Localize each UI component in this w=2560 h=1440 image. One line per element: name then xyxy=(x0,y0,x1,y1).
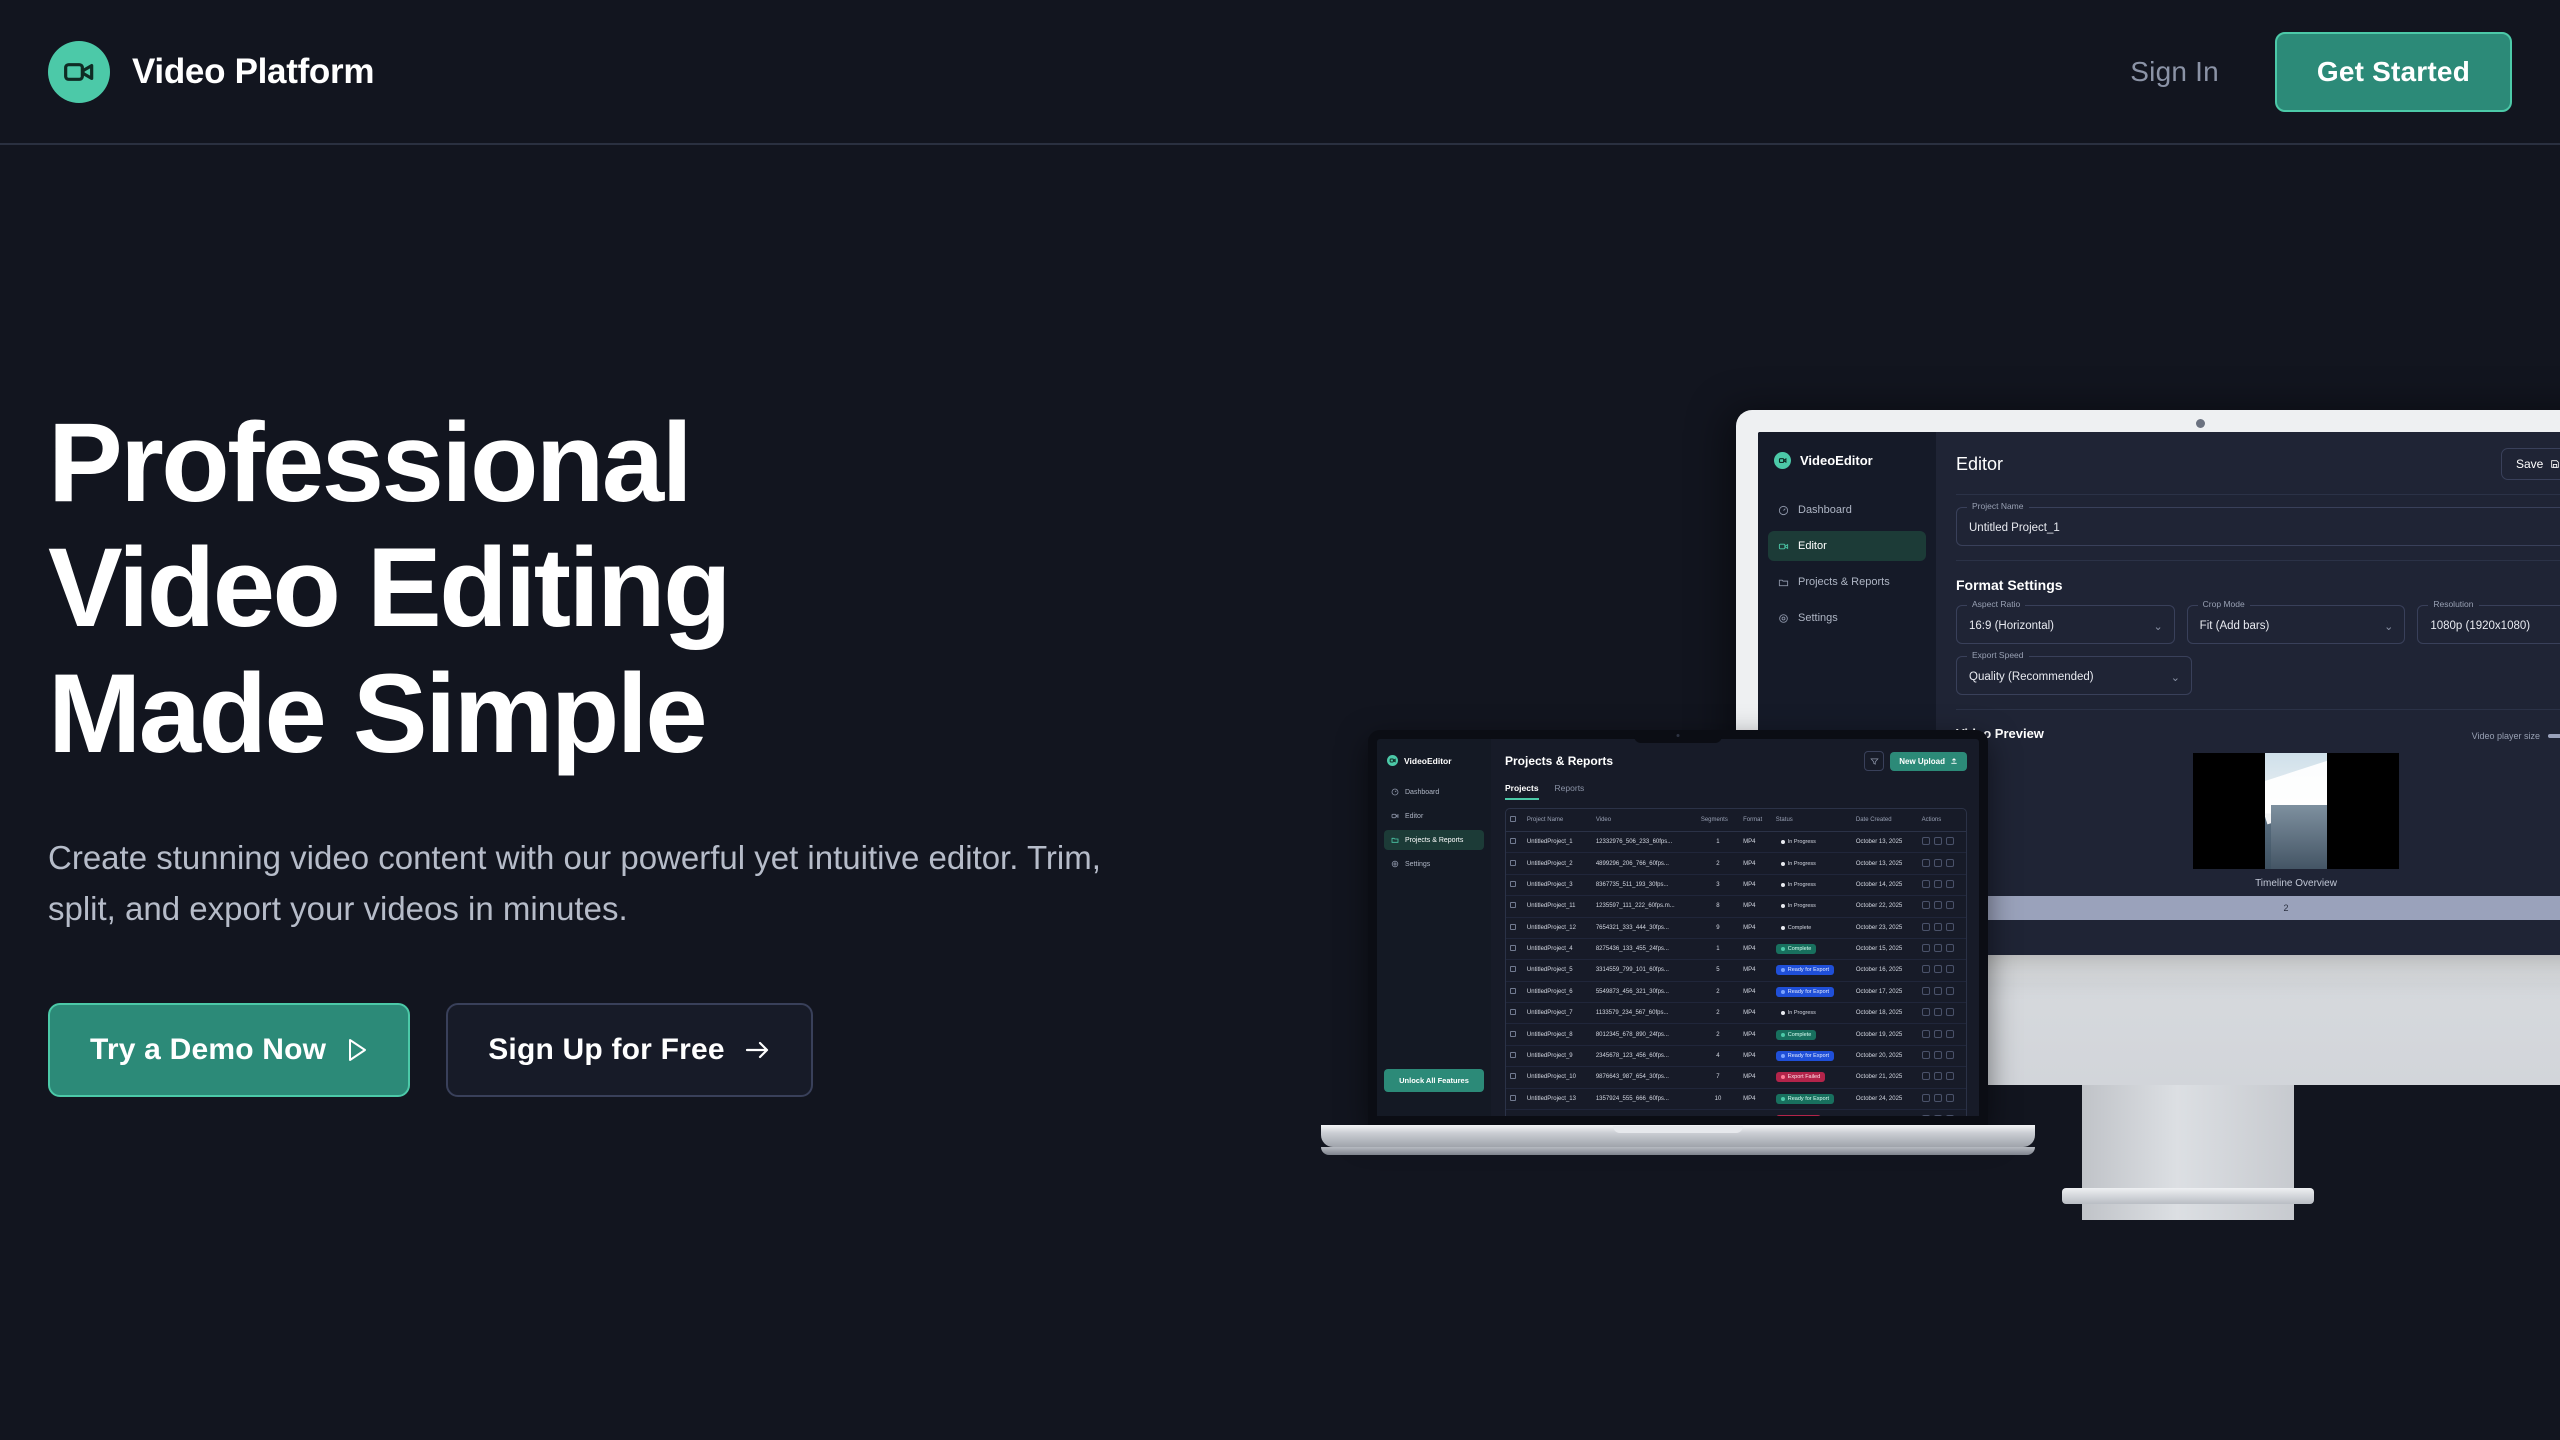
editor-topbar: Editor Save Exp xyxy=(1956,448,2560,480)
laptop-header: Projects & Reports New Upload xyxy=(1505,751,1967,771)
cell-date-created: October 18, 2025 xyxy=(1852,1003,1918,1024)
edit-icon xyxy=(1922,880,1930,888)
format-fields-row: Aspect Ratio 16:9 (Horizontal) ⌄ Crop Mo… xyxy=(1956,593,2560,644)
cell-segments: 7 xyxy=(1697,1067,1739,1088)
cell-video: 1235597_111_222_60fps.m... xyxy=(1592,896,1697,917)
edit-icon xyxy=(1922,1115,1930,1116)
aspect-ratio-value: 16:9 (Horizontal) xyxy=(1969,620,2054,632)
sidebar-label: Projects & Reports xyxy=(1405,837,1463,844)
editor-brand-name: VideoEditor xyxy=(1800,453,1873,468)
cell-segments: 2 xyxy=(1697,1003,1739,1024)
cell-format: MP4 xyxy=(1739,1088,1772,1109)
monitor-stand-base xyxy=(2062,1188,2314,1204)
sidebar-label: Settings xyxy=(1405,861,1430,868)
cell-date-created: October 13, 2025 xyxy=(1852,853,1918,874)
save-button[interactable]: Save xyxy=(2501,448,2560,480)
export-speed-value: Quality (Recommended) xyxy=(1969,671,2094,683)
cell-video: 1357924_555_666_60fps... xyxy=(1592,1088,1697,1109)
trash-icon xyxy=(1946,880,1954,888)
sidebar-item-projects-reports[interactable]: Projects & Reports xyxy=(1768,567,1926,597)
cell-date-created: October 24, 2025 xyxy=(1852,1088,1918,1109)
folder-icon xyxy=(1778,577,1789,588)
download-icon xyxy=(1934,1094,1942,1102)
edit-icon xyxy=(1922,1051,1930,1059)
laptop-header-actions: New Upload xyxy=(1864,751,1967,771)
row-checkbox[interactable] xyxy=(1506,896,1523,917)
cell-date-created: October 22, 2025 xyxy=(1852,896,1918,917)
cell-segments: 5 xyxy=(1697,960,1739,981)
video-camera-icon xyxy=(1774,452,1791,469)
cell-format: MP4 xyxy=(1739,1024,1772,1045)
cell-date-created: October 19, 2025 xyxy=(1852,1024,1918,1045)
gauge-icon xyxy=(1778,505,1789,516)
webcam-icon xyxy=(2196,419,2205,428)
trash-icon xyxy=(1946,1094,1954,1102)
cell-video: 12332976_506_233_60fps... xyxy=(1592,832,1697,853)
editor-main: Editor Save Exp Project Name Untitl xyxy=(1936,432,2560,955)
cell-actions[interactable] xyxy=(1918,1003,1966,1024)
cell-project-name: UntitledProject_14 xyxy=(1523,1109,1592,1116)
download-icon xyxy=(1934,987,1942,995)
table-row[interactable]: UntitledProject_127654321_333_444_30fps.… xyxy=(1506,917,1966,938)
cell-format: MP4 xyxy=(1739,896,1772,917)
video-camera-icon xyxy=(1391,812,1399,820)
edit-icon xyxy=(1922,1030,1930,1038)
cell-status: Complete xyxy=(1772,938,1852,959)
export-speed-select[interactable]: Export Speed Quality (Recommended) ⌄ xyxy=(1956,656,2192,695)
sidebar-item-dashboard[interactable]: Dashboard xyxy=(1384,782,1484,802)
cell-segments: 2 xyxy=(1697,853,1739,874)
download-icon xyxy=(1934,1051,1942,1059)
cell-status: In Progress xyxy=(1772,896,1852,917)
row-checkbox[interactable] xyxy=(1506,960,1523,981)
row-checkbox[interactable] xyxy=(1506,874,1523,895)
cell-actions[interactable] xyxy=(1918,896,1966,917)
row-checkbox[interactable] xyxy=(1506,1088,1523,1109)
cell-format: MP4 xyxy=(1739,1003,1772,1024)
project-name-legend: Project Name xyxy=(1967,501,2029,511)
sidebar-item-settings[interactable]: Settings xyxy=(1384,854,1484,874)
column-status[interactable]: Status xyxy=(1772,809,1852,832)
crop-mode-value: Fit (Add bars) xyxy=(2200,620,2270,632)
cell-video: 2468135_777_888_24fps... xyxy=(1592,1109,1697,1116)
video-preview-header: Video Preview Video player size xyxy=(1956,726,2560,741)
cell-actions[interactable] xyxy=(1918,853,1966,874)
laptop-mockup: VideoEditor Dashboard Editor Projects & … xyxy=(1368,730,1988,1125)
download-icon xyxy=(1934,859,1942,867)
download-icon xyxy=(1934,1030,1942,1038)
cell-actions[interactable] xyxy=(1918,832,1966,853)
cell-project-name: UntitledProject_2 xyxy=(1523,853,1592,874)
cell-project-name: UntitledProject_4 xyxy=(1523,938,1592,959)
laptop-nav: Dashboard Editor Projects & Reports Sett… xyxy=(1377,782,1491,874)
cell-status: Ready for Export xyxy=(1772,1088,1852,1109)
gear-icon xyxy=(1778,613,1789,624)
sidebar-item-projects-reports[interactable]: Projects & Reports xyxy=(1384,830,1484,850)
gauge-icon xyxy=(1391,788,1399,796)
column-date-created[interactable]: Date Created xyxy=(1852,809,1918,832)
cell-actions[interactable] xyxy=(1918,1045,1966,1066)
format-settings-title: Format Settings xyxy=(1956,577,2560,593)
resolution-legend: Resolution xyxy=(2428,599,2478,609)
cell-format: MP4 xyxy=(1739,853,1772,874)
laptop-base xyxy=(1321,1125,2035,1147)
project-name-value: Untitled Project_1 xyxy=(1969,522,2060,534)
column-project-name[interactable]: Project Name xyxy=(1523,809,1592,832)
cell-project-name: UntitledProject_11 xyxy=(1523,896,1592,917)
trash-icon xyxy=(1946,944,1954,952)
editor-top-actions: Save Exp xyxy=(2501,448,2560,480)
download-icon xyxy=(1934,923,1942,931)
sidebar-label: Dashboard xyxy=(1798,504,1852,516)
trash-icon xyxy=(1946,1115,1954,1116)
laptop-brand-name: VideoEditor xyxy=(1404,756,1452,766)
download-icon xyxy=(1934,880,1942,888)
editor-nav: Dashboard Editor Projects & Reports Sett… xyxy=(1758,495,1936,633)
sidebar-item-dashboard[interactable]: Dashboard xyxy=(1768,495,1926,525)
cell-date-created: October 15, 2025 xyxy=(1852,938,1918,959)
table-row[interactable]: UntitledProject_142468135_777_888_24fps.… xyxy=(1506,1109,1966,1116)
aspect-ratio-legend: Aspect Ratio xyxy=(1967,599,2025,609)
slider-track[interactable] xyxy=(2548,734,2560,738)
table-header-row: Project Name Video Segments Format Statu… xyxy=(1506,809,1966,832)
project-name-field[interactable]: Project Name Untitled Project_1 xyxy=(1956,507,2560,546)
row-checkbox[interactable] xyxy=(1506,832,1523,853)
cell-video: 1133579_234_567_60fps... xyxy=(1592,1003,1697,1024)
cell-format: MP4 xyxy=(1739,832,1772,853)
cell-actions[interactable] xyxy=(1918,1067,1966,1088)
cell-video: 2345678_123_456_60fps... xyxy=(1592,1045,1697,1066)
unlock-all-features-button[interactable]: Unlock All Features xyxy=(1384,1069,1484,1092)
cell-project-name: UntitledProject_10 xyxy=(1523,1067,1592,1088)
row-checkbox[interactable] xyxy=(1506,1045,1523,1066)
cell-segments: 4 xyxy=(1697,1045,1739,1066)
trash-icon xyxy=(1946,965,1954,973)
edit-icon xyxy=(1922,837,1930,845)
folder-icon xyxy=(1391,836,1399,844)
tab-reports[interactable]: Reports xyxy=(1555,783,1585,800)
cell-video: 4899296_206_766_60fps... xyxy=(1592,853,1697,874)
cell-actions[interactable] xyxy=(1918,938,1966,959)
table-row[interactable]: UntitledProject_88012345_678_890_24fps..… xyxy=(1506,1024,1966,1045)
cell-actions[interactable] xyxy=(1918,917,1966,938)
cell-status: In Progress xyxy=(1772,853,1852,874)
cell-format: MP4 xyxy=(1739,1067,1772,1088)
cell-project-name: UntitledProject_9 xyxy=(1523,1045,1592,1066)
cell-segments: 2 xyxy=(1697,981,1739,1002)
cell-status: In Progress xyxy=(1772,1003,1852,1024)
edit-icon xyxy=(1922,1072,1930,1080)
cell-date-created: October 23, 2025 xyxy=(1852,917,1918,938)
cell-status: In Progress xyxy=(1772,874,1852,895)
trash-icon xyxy=(1946,923,1954,931)
download-icon xyxy=(1934,965,1942,973)
cell-video: 8012345_678_890_24fps... xyxy=(1592,1024,1697,1045)
cell-format: MP4 xyxy=(1739,917,1772,938)
trash-icon xyxy=(1946,837,1954,845)
aspect-ratio-select[interactable]: Aspect Ratio 16:9 (Horizontal) ⌄ xyxy=(1956,605,2175,644)
projects-table-wrapper: Project Name Video Segments Format Statu… xyxy=(1505,808,1967,1116)
cell-date-created: October 13, 2025 xyxy=(1852,832,1918,853)
laptop-main: Projects & Reports New Upload Projects R… xyxy=(1491,739,1979,1116)
laptop-sidebar: VideoEditor Dashboard Editor Projects & … xyxy=(1377,739,1491,1116)
download-icon xyxy=(1934,901,1942,909)
crop-mode-select[interactable]: Crop Mode Fit (Add bars) ⌄ xyxy=(2187,605,2406,644)
row-checkbox[interactable] xyxy=(1506,917,1523,938)
sidebar-label: Dashboard xyxy=(1405,789,1439,796)
table-row[interactable]: UntitledProject_48275436_133_455_24fps..… xyxy=(1506,938,1966,959)
cell-date-created: October 14, 2025 xyxy=(1852,874,1918,895)
chevron-down-icon: ⌄ xyxy=(2384,619,2393,632)
cell-project-name: UntitledProject_6 xyxy=(1523,981,1592,1002)
edit-icon xyxy=(1922,901,1930,909)
edit-icon xyxy=(1922,987,1930,995)
save-label: Save xyxy=(2516,457,2543,471)
table-row[interactable]: UntitledProject_109876643_987_654_30fps.… xyxy=(1506,1067,1966,1088)
player-size-label: Video player size xyxy=(2472,731,2540,741)
cell-status: Complete xyxy=(1772,917,1852,938)
edit-icon xyxy=(1922,859,1930,867)
cell-actions[interactable] xyxy=(1918,874,1966,895)
tab-projects[interactable]: Projects xyxy=(1505,783,1539,800)
table-row[interactable]: UntitledProject_92345678_123_456_60fps..… xyxy=(1506,1045,1966,1066)
cell-project-name: UntitledProject_3 xyxy=(1523,874,1592,895)
preview-thumbnail xyxy=(2265,753,2327,869)
table-row[interactable]: UntitledProject_65549873_456_321_30fps..… xyxy=(1506,981,1966,1002)
download-icon xyxy=(1934,1008,1942,1016)
cell-video: 8367735_511_193_30fps... xyxy=(1592,874,1697,895)
sidebar-label: Projects & Reports xyxy=(1798,576,1890,588)
cell-format: MP4 xyxy=(1739,874,1772,895)
sidebar-label: Editor xyxy=(1405,813,1423,820)
download-icon xyxy=(1934,944,1942,952)
new-upload-label: New Upload xyxy=(1899,757,1945,766)
cell-date-created: October 16, 2025 xyxy=(1852,960,1918,981)
table-body: UntitledProject_112332976_506_233_60fps.… xyxy=(1506,832,1966,1117)
cell-date-created: October 25, 2025 xyxy=(1852,1109,1918,1116)
cell-segments: 1 xyxy=(1697,938,1739,959)
crop-mode-legend: Crop Mode xyxy=(2198,599,2250,609)
cell-status: Complete xyxy=(1772,1024,1852,1045)
cell-actions[interactable] xyxy=(1918,1088,1966,1109)
save-disk-icon xyxy=(2550,459,2560,469)
resolution-select[interactable]: Resolution 1080p (1920x1080) ⌄ xyxy=(2417,605,2560,644)
download-icon xyxy=(1934,1115,1942,1116)
laptop-tabs: Projects Reports xyxy=(1505,783,1967,800)
laptop-notch xyxy=(1634,730,1722,743)
edit-icon xyxy=(1922,965,1930,973)
table-row[interactable]: UntitledProject_111235597_111_222_60fps.… xyxy=(1506,896,1966,917)
trash-icon xyxy=(1946,1051,1954,1059)
row-checkbox[interactable] xyxy=(1506,1067,1523,1088)
funnel-icon[interactable] xyxy=(1864,751,1884,771)
column-format[interactable]: Format xyxy=(1739,809,1772,832)
edit-icon xyxy=(1922,923,1930,931)
chevron-down-icon: ⌄ xyxy=(2171,670,2180,683)
cell-status: Ready for Export xyxy=(1772,981,1852,1002)
table-row[interactable]: UntitledProject_24899296_206_766_60fps..… xyxy=(1506,853,1966,874)
cell-project-name: UntitledProject_8 xyxy=(1523,1024,1592,1045)
row-checkbox[interactable] xyxy=(1506,1109,1523,1116)
cell-actions[interactable] xyxy=(1918,981,1966,1002)
cell-project-name: UntitledProject_13 xyxy=(1523,1088,1592,1109)
cell-video: 3314559_799_101_60fps... xyxy=(1592,960,1697,981)
download-icon xyxy=(1934,837,1942,845)
cell-actions[interactable] xyxy=(1918,1109,1966,1116)
row-checkbox[interactable] xyxy=(1506,981,1523,1002)
laptop-foot xyxy=(1321,1147,2035,1155)
cell-segments: 2 xyxy=(1697,1024,1739,1045)
column-actions: Actions xyxy=(1918,809,1966,832)
divider xyxy=(1956,494,2560,495)
column-segments[interactable]: Segments xyxy=(1697,809,1739,832)
cell-segments: 11 xyxy=(1697,1109,1739,1116)
cell-actions[interactable] xyxy=(1918,1024,1966,1045)
edit-icon xyxy=(1922,1008,1930,1016)
new-upload-button[interactable]: New Upload xyxy=(1890,752,1967,771)
divider xyxy=(1956,709,2560,710)
cell-video: 9876643_987_654_30fps... xyxy=(1592,1067,1697,1088)
sidebar-item-settings[interactable]: Settings xyxy=(1768,603,1926,633)
row-checkbox[interactable] xyxy=(1506,1024,1523,1045)
cell-segments: 1 xyxy=(1697,832,1739,853)
cell-date-created: October 17, 2025 xyxy=(1852,981,1918,1002)
cell-format: MP4 xyxy=(1739,1045,1772,1066)
projects-table: Project Name Video Segments Format Statu… xyxy=(1506,809,1966,1116)
divider xyxy=(1956,560,2560,561)
player-size-slider[interactable]: Video player size xyxy=(2472,731,2560,741)
cell-segments: 9 xyxy=(1697,917,1739,938)
cell-format: MP4 xyxy=(1739,1109,1772,1116)
laptop-screen: VideoEditor Dashboard Editor Projects & … xyxy=(1368,730,1988,1125)
cell-video: 5549873_456_321_30fps... xyxy=(1592,981,1697,1002)
upload-icon xyxy=(1950,757,1958,765)
cell-status: In Progress xyxy=(1772,1109,1852,1116)
sidebar-label: Editor xyxy=(1798,540,1827,552)
cell-video: 8275436_133_455_24fps... xyxy=(1592,938,1697,959)
timeline-caption: Timeline Overview xyxy=(1956,878,2560,889)
video-camera-icon xyxy=(1387,755,1398,766)
download-icon xyxy=(1934,1072,1942,1080)
video-player-preview[interactable] xyxy=(2193,753,2399,869)
cell-status: In Progress xyxy=(1772,832,1852,853)
cell-status: Export Failed xyxy=(1772,1067,1852,1088)
product-mockups: VideoEditor Dashboard Editor Projects & … xyxy=(0,0,2560,1440)
cell-segments: 10 xyxy=(1697,1088,1739,1109)
cell-video: 7654321_333_444_30fps... xyxy=(1592,917,1697,938)
trash-icon xyxy=(1946,987,1954,995)
cell-actions[interactable] xyxy=(1918,960,1966,981)
cell-format: MP4 xyxy=(1739,938,1772,959)
trash-icon xyxy=(1946,1008,1954,1016)
chevron-down-icon: ⌄ xyxy=(2153,619,2162,632)
edit-icon xyxy=(1922,944,1930,952)
trash-icon xyxy=(1946,1030,1954,1038)
cell-project-name: UntitledProject_12 xyxy=(1523,917,1592,938)
export-speed-row: Export Speed Quality (Recommended) ⌄ xyxy=(1956,644,2560,695)
cell-status: Ready for Export xyxy=(1772,1045,1852,1066)
sidebar-label: Settings xyxy=(1798,612,1838,624)
table-row[interactable]: UntitledProject_53314559_799_101_60fps..… xyxy=(1506,960,1966,981)
trash-icon xyxy=(1946,901,1954,909)
laptop-page-title: Projects & Reports xyxy=(1505,754,1613,768)
cell-format: MP4 xyxy=(1739,960,1772,981)
editor-brand: VideoEditor xyxy=(1758,452,1936,495)
export-speed-legend: Export Speed xyxy=(1967,650,2029,660)
sidebar-item-editor[interactable]: Editor xyxy=(1768,531,1926,561)
cell-project-name: UntitledProject_7 xyxy=(1523,1003,1592,1024)
column-video[interactable]: Video xyxy=(1592,809,1697,832)
select-all-checkbox[interactable] xyxy=(1506,809,1523,832)
cell-segments: 3 xyxy=(1697,874,1739,895)
gear-icon xyxy=(1391,860,1399,868)
sidebar-item-editor[interactable]: Editor xyxy=(1384,806,1484,826)
cell-date-created: October 21, 2025 xyxy=(1852,1067,1918,1088)
video-camera-icon xyxy=(1778,541,1789,552)
table-row[interactable]: UntitledProject_38367735_511_193_30fps..… xyxy=(1506,874,1966,895)
row-checkbox[interactable] xyxy=(1506,853,1523,874)
row-checkbox[interactable] xyxy=(1506,938,1523,959)
trash-icon xyxy=(1946,1072,1954,1080)
cell-status: Ready for Export xyxy=(1772,960,1852,981)
resolution-value: 1080p (1920x1080) xyxy=(2430,620,2530,632)
laptop-brand: VideoEditor xyxy=(1377,755,1491,782)
cell-segments: 8 xyxy=(1697,896,1739,917)
trash-icon xyxy=(1946,859,1954,867)
row-checkbox[interactable] xyxy=(1506,1003,1523,1024)
table-row[interactable]: UntitledProject_71133579_234_567_60fps..… xyxy=(1506,1003,1966,1024)
table-row[interactable]: UntitledProject_131357924_555_666_60fps.… xyxy=(1506,1088,1966,1109)
cell-project-name: UntitledProject_5 xyxy=(1523,960,1592,981)
edit-icon xyxy=(1922,1094,1930,1102)
cell-format: MP4 xyxy=(1739,981,1772,1002)
editor-page-title: Editor xyxy=(1956,454,2003,475)
cell-date-created: October 20, 2025 xyxy=(1852,1045,1918,1066)
cell-project-name: UntitledProject_1 xyxy=(1523,832,1592,853)
table-row[interactable]: UntitledProject_112332976_506_233_60fps.… xyxy=(1506,832,1966,853)
timeline-bar[interactable]: 2 xyxy=(1936,896,2560,920)
